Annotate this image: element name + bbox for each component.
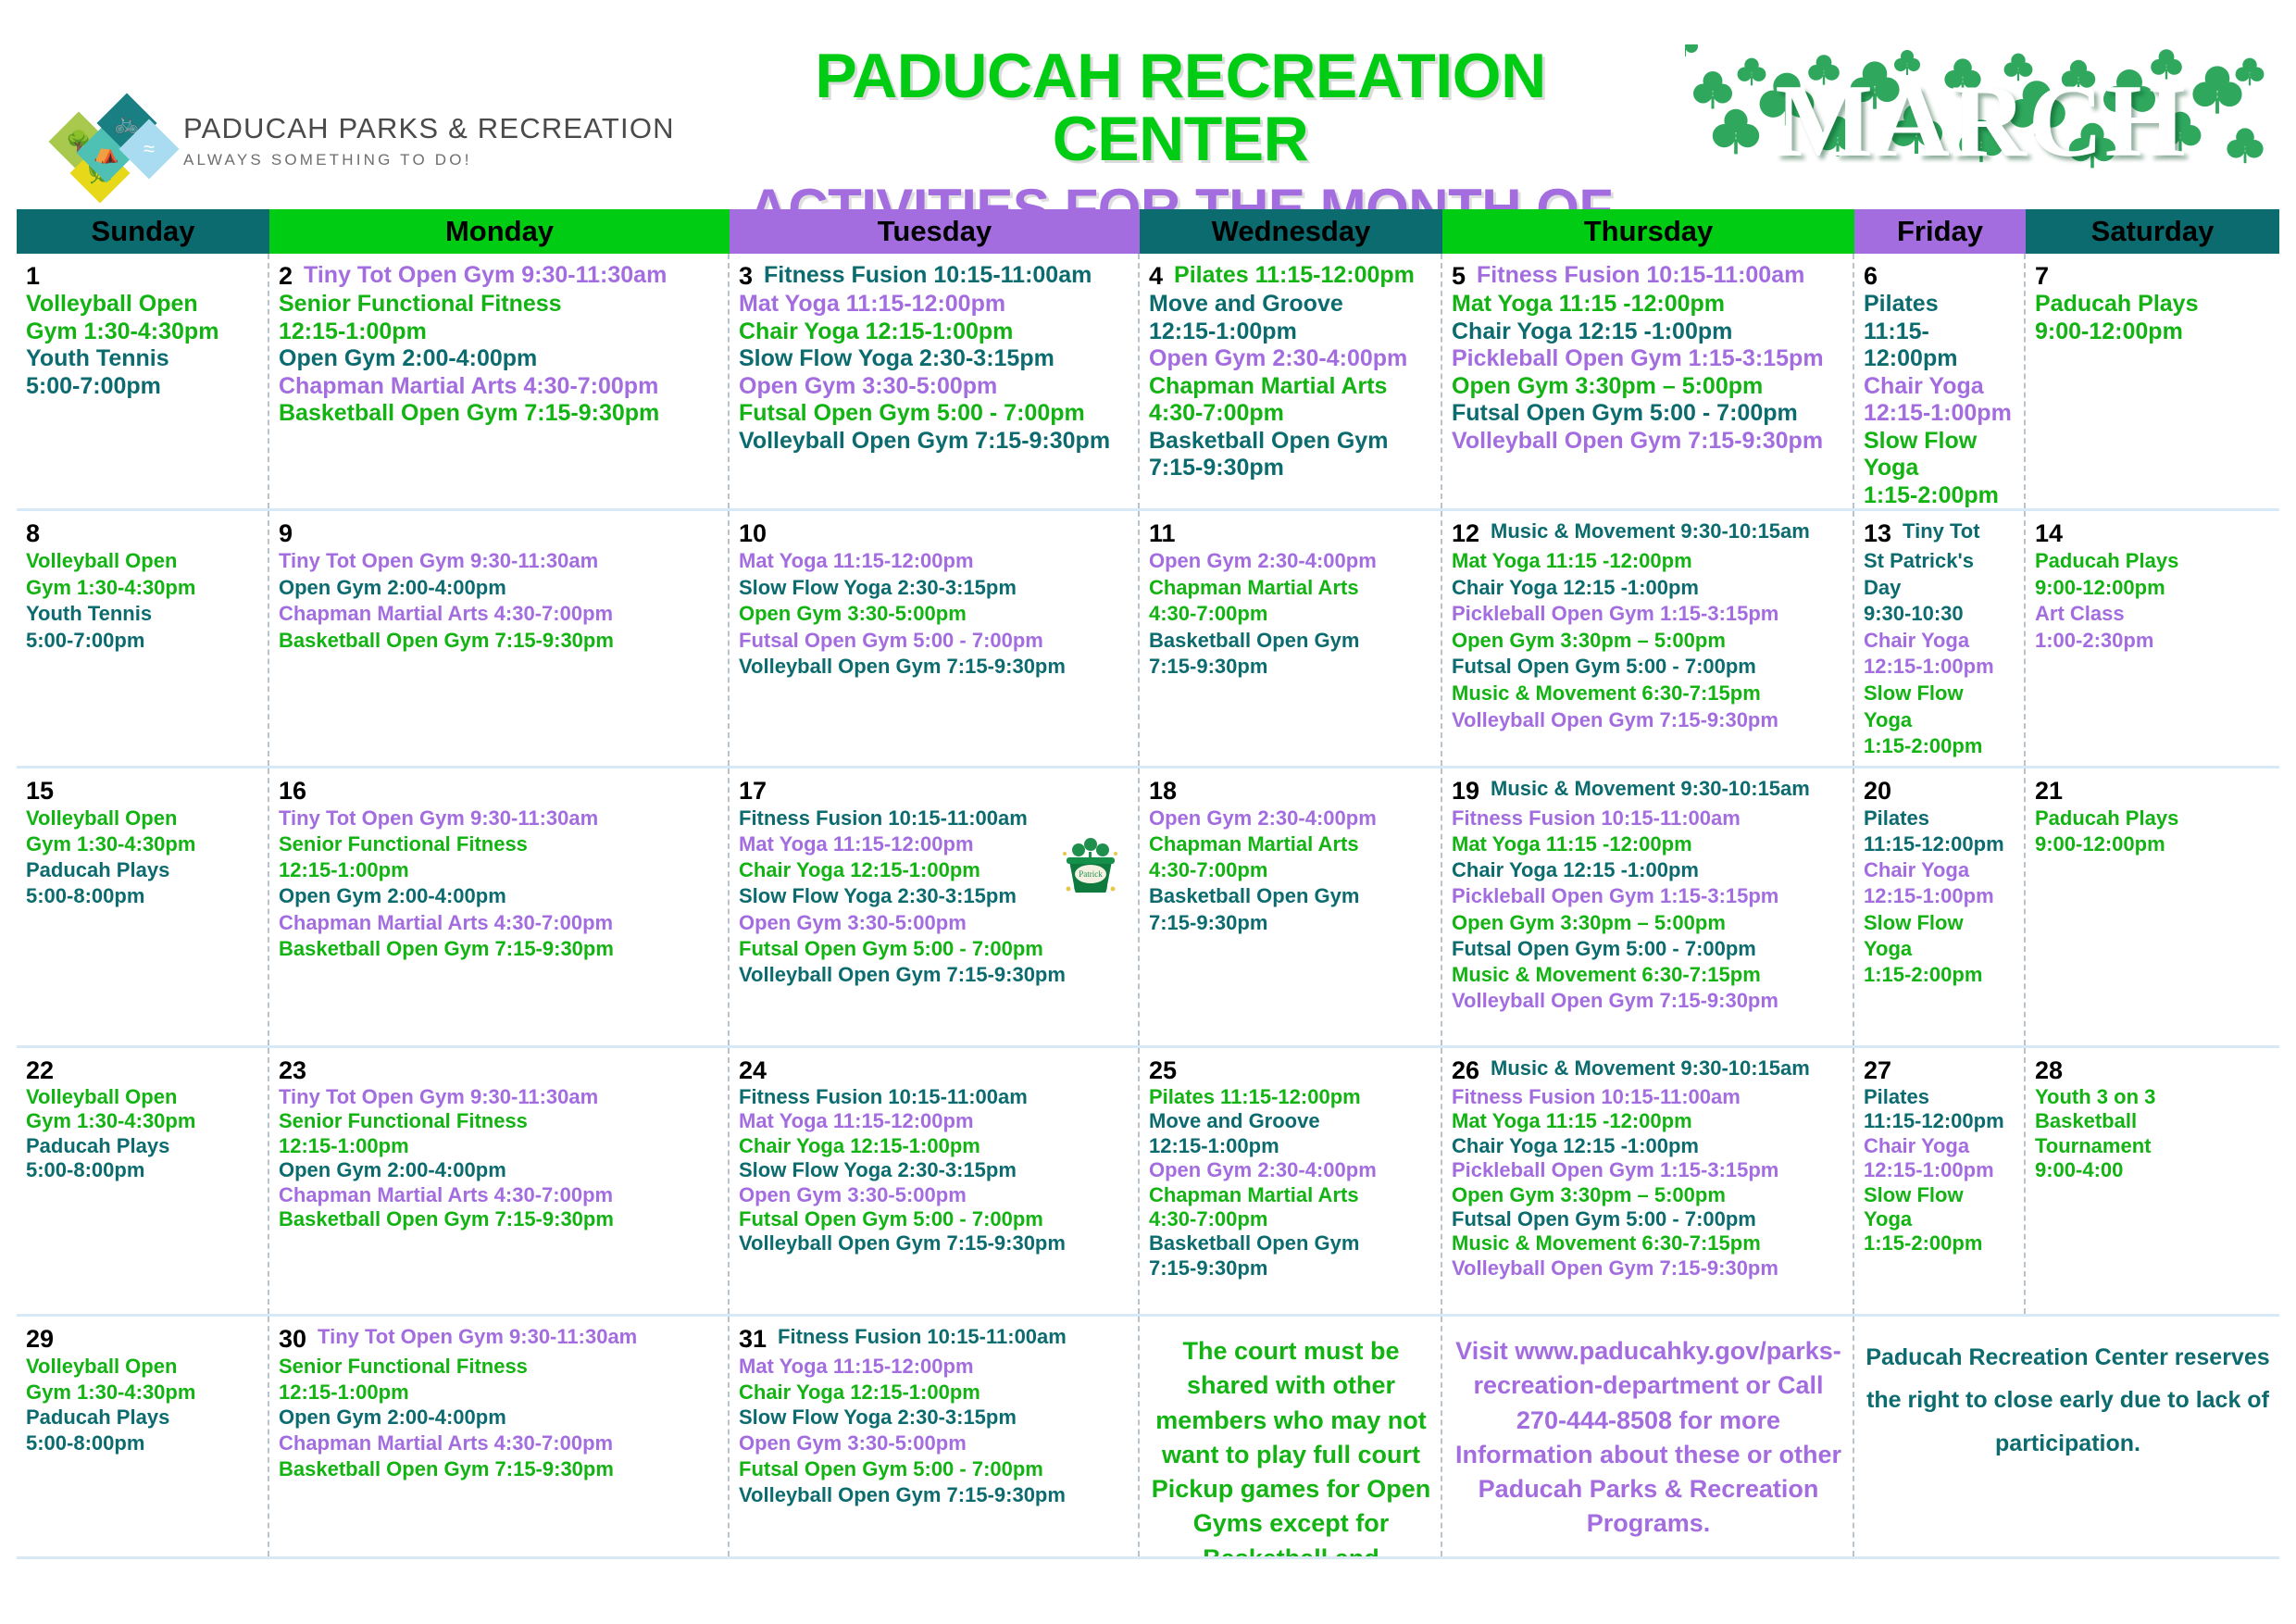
event-item: Fitness Fusion 10:15-11:00am (1452, 1085, 1845, 1109)
event-item: Open Gym 3:30pm – 5:00pm (1452, 373, 1845, 401)
day-number: 28 (2035, 1056, 2063, 1085)
event-item: Mat Yoga 11:15-12:00pm (739, 1109, 1130, 1133)
event-item: Basketball Open Gym (1149, 883, 1433, 909)
day-number: 14 (2035, 519, 2063, 548)
event-item: Fitness Fusion 10:15-11:00am (739, 806, 1130, 831)
event-item: Basketball Open Gym (1149, 1231, 1433, 1255)
event-item: 12:15-1:00pm (1864, 1158, 2016, 1182)
event-item: Slow Flow Yoga 2:30-3:15pm (739, 345, 1130, 373)
event-item: Tiny Tot (1903, 519, 1980, 543)
event-item: Volleyball Open (26, 1354, 260, 1380)
event-item: 12:15-1:00pm (1149, 319, 1433, 346)
event-item: 5:00-8:00pm (26, 1158, 260, 1182)
day-cell-header: 25 (1149, 1056, 1433, 1085)
day-cell-14: 14Paducah Plays9:00-12:00pmArt Class1:00… (2026, 511, 2279, 766)
event-item: Pickleball Open Gym 1:15-3:15pm (1452, 883, 1845, 909)
event-item: Tiny Tot Open Gym 9:30-11:30am (279, 1085, 720, 1109)
event-item: Pickleball Open Gym 1:15-3:15pm (1452, 1158, 1845, 1182)
day-number: 4 (1149, 262, 1163, 291)
day-number: 19 (1452, 777, 1479, 806)
event-item: Basketball (2035, 1109, 2272, 1133)
event-item: Volleyball Open Gym 7:15-9:30pm (1452, 988, 1845, 1014)
event-item: Tiny Tot Open Gym 9:30-11:30am (304, 262, 667, 288)
event-item: Music & Movement 9:30-10:15am (1491, 519, 1810, 543)
event-item: 12:15-1:00pm (279, 857, 720, 883)
dow-thursday: Thursday (1442, 209, 1854, 254)
event-item: Mat Yoga 11:15-12:00pm (739, 1354, 1130, 1380)
dow-saturday: Saturday (2026, 209, 2279, 254)
day-number: 13 (1864, 519, 1891, 548)
event-item: Futsal Open Gym 5:00 - 7:00pm (739, 936, 1130, 962)
event-item: 4:30-7:00pm (1149, 1207, 1433, 1231)
day-number: 30 (279, 1325, 306, 1354)
day-cell-header: 21 (2035, 777, 2272, 806)
event-item: Paducah Plays (26, 1134, 260, 1158)
event-item: Mat Yoga 11:15 -12:00pm (1452, 1109, 1845, 1133)
event-item: Pickleball Open Gym 1:15-3:15pm (1452, 345, 1845, 373)
day-number: 12 (1452, 519, 1479, 548)
day-cell-15: 15Volleyball OpenGym 1:30-4:30pmPaducah … (17, 768, 269, 1045)
event-item: Gym 1:30-4:30pm (26, 831, 260, 857)
day-cell-28: 28Youth 3 on 3BasketballTournament9:00-4… (2026, 1048, 2279, 1314)
day-cell-header: 9 (279, 519, 720, 548)
event-item: Volleyball Open Gym 7:15-9:30pm (1452, 428, 1845, 456)
event-item: Senior Functional Fitness (279, 831, 720, 857)
day-number: 15 (26, 777, 54, 806)
event-item: 7:15-9:30pm (1149, 910, 1433, 936)
day-cell-header: 1 (26, 262, 260, 291)
event-item: 5:00-8:00pm (26, 883, 260, 909)
dow-tuesday: Tuesday (730, 209, 1140, 254)
event-item: Open Gym 2:30-4:00pm (1149, 1158, 1433, 1182)
event-item: Open Gym 3:30-5:00pm (739, 910, 1130, 936)
day-cell-header: 26Music & Movement 9:30-10:15am (1452, 1056, 1845, 1085)
calendar-page: 🌳 🌿 ⛺ 🚲 ≈ PADUCAH PARKS & RECREATION ALW… (0, 0, 2296, 1624)
day-number: 2 (279, 262, 293, 291)
event-item: Pilates (1864, 1085, 2016, 1109)
day-cell-11: 11Open Gym 2:30-4:00pmChapman Martial Ar… (1140, 511, 1442, 766)
day-cell-3: 3Fitness Fusion 10:15-11:00amMat Yoga 11… (730, 254, 1140, 508)
event-item: Volleyball Open (26, 806, 260, 831)
event-item: Chair Yoga (1864, 628, 2016, 655)
event-item: Open Gym 3:30pm – 5:00pm (1452, 628, 1845, 655)
event-item: Basketball Open Gym 7:15-9:30pm (279, 936, 720, 962)
event-item: 1:00-2:30pm (2035, 628, 2272, 655)
calendar-grid: Sunday Monday Tuesday Wednesday Thursday… (17, 209, 2279, 1559)
day-number: 3 (739, 262, 753, 291)
event-item: Futsal Open Gym 5:00 - 7:00pm (739, 1456, 1130, 1482)
disclaimer-note: Paducah Recreation Center reserves the r… (1864, 1336, 2272, 1465)
event-item: Youth Tennis (26, 601, 260, 628)
day-cell-header: 10 (739, 519, 1130, 548)
event-item: 11:15-12:00pm (1864, 831, 2016, 857)
event-item: Open Gym 3:30pm – 5:00pm (1452, 910, 1845, 936)
day-cell-header: 14 (2035, 519, 2272, 548)
day-number: 11 (1149, 519, 1176, 548)
calendar-week-row: 15Volleyball OpenGym 1:30-4:30pmPaducah … (17, 768, 2279, 1048)
day-number: 10 (739, 519, 767, 548)
day-cell-header: 16 (279, 777, 720, 806)
event-item: 7:15-9:30pm (1149, 1256, 1433, 1280)
dow-monday: Monday (269, 209, 730, 254)
event-item: Basketball Open Gym (1149, 628, 1433, 655)
day-number: 27 (1864, 1056, 1891, 1085)
calendar-note-cell: Visit www.paducahky.gov/parks-recreation… (1442, 1317, 1854, 1556)
day-cell-2: 2Tiny Tot Open Gym 9:30-11:30amSenior Fu… (269, 254, 730, 508)
event-item: Tiny Tot Open Gym 9:30-11:30am (279, 806, 720, 831)
day-number: 29 (26, 1325, 54, 1354)
day-cell-18: 18Open Gym 2:30-4:00pmChapman Martial Ar… (1140, 768, 1442, 1045)
event-item: 7:15-9:30pm (1149, 455, 1433, 482)
day-cell-20: 20Pilates11:15-12:00pmChair Yoga12:15-1:… (1854, 768, 2026, 1045)
event-item: Paducah Plays (26, 1405, 260, 1430)
svg-text:Patrick: Patrick (1079, 869, 1103, 879)
day-cell-header: 15 (26, 777, 260, 806)
page-title: PADUCAH RECREATION CENTER (690, 44, 1671, 170)
day-number: 21 (2035, 777, 2063, 806)
event-item: Open Gym 2:00-4:00pm (279, 345, 720, 373)
event-item: Paducah Plays (26, 857, 260, 883)
event-item: Pickleball Open Gym 1:15-3:15pm (1452, 601, 1845, 628)
event-item: Basketball Open Gym 7:15-9:30pm (279, 1207, 720, 1231)
event-item: 9:00-12:00pm (2035, 319, 2272, 346)
event-item: Volleyball Open (26, 1085, 260, 1109)
day-cell-25: 25Pilates 11:15-12:00pmMove and Groove12… (1140, 1048, 1442, 1314)
event-item: Open Gym 2:30-4:00pm (1149, 548, 1433, 575)
day-number: 20 (1864, 777, 1891, 806)
event-item: Mat Yoga 11:15-12:00pm (739, 548, 1130, 575)
day-cell-header: 29 (26, 1325, 260, 1354)
calendar-week-row: 29Volleyball OpenGym 1:30-4:30pmPaducah … (17, 1317, 2279, 1559)
event-item: Open Gym 2:30-4:00pm (1149, 345, 1433, 373)
day-cell-header: 19Music & Movement 9:30-10:15am (1452, 777, 1845, 806)
event-item: Pilates (1864, 291, 2016, 319)
event-item: Move and Groove (1149, 1109, 1433, 1133)
event-item: Slow Flow Yoga 2:30-3:15pm (739, 575, 1130, 602)
event-item: Gym 1:30-4:30pm (26, 319, 260, 346)
day-cell-header: 13Tiny Tot (1864, 519, 2016, 548)
event-item: Mat Yoga 11:15 -12:00pm (1452, 831, 1845, 857)
event-item: 4:30-7:00pm (1149, 601, 1433, 628)
day-cell-6: 6Pilates11:15-12:00pmChair Yoga12:15-1:0… (1854, 254, 2026, 508)
event-item: 9:00-12:00pm (2035, 575, 2272, 602)
dow-sunday: Sunday (17, 209, 269, 254)
event-item: St Patrick's Day (1864, 548, 2016, 601)
event-item: Gym 1:30-4:30pm (26, 1109, 260, 1133)
day-number: 26 (1452, 1056, 1479, 1085)
event-item: Basketball Open Gym 7:15-9:30pm (279, 400, 720, 428)
event-item: Chair Yoga (1864, 1134, 2016, 1158)
event-item: Youth 3 on 3 (2035, 1085, 2272, 1109)
day-cell-header: 28 (2035, 1056, 2272, 1085)
day-number: 9 (279, 519, 293, 548)
brand-tagline: ALWAYS SOMETHING TO DO! (183, 151, 675, 169)
event-item: Music & Movement 9:30-10:15am (1491, 1056, 1810, 1080)
event-item: Chair Yoga 12:15 -1:00pm (1452, 319, 1845, 346)
event-item: Chair Yoga 12:15 -1:00pm (1452, 575, 1845, 602)
event-item: Fitness Fusion 10:15-11:00am (1452, 806, 1845, 831)
day-number: 24 (739, 1056, 767, 1085)
day-number: 22 (26, 1056, 54, 1085)
day-number: 16 (279, 777, 306, 806)
event-item: Open Gym 2:00-4:00pm (279, 1158, 720, 1182)
event-item: Basketball Open Gym 7:15-9:30pm (279, 628, 720, 655)
calendar-note-cell: Paducah Recreation Center reserves the r… (1854, 1317, 2279, 1556)
day-cell-16: 16Tiny Tot Open Gym 9:30-11:30amSenior F… (269, 768, 730, 1045)
event-item: Fitness Fusion 10:15-11:00am (1477, 262, 1804, 288)
event-item: 9:00-12:00pm (2035, 831, 2272, 857)
event-item: Futsal Open Gym 5:00 - 7:00pm (1452, 936, 1845, 962)
event-item: 12:15-1:00pm (1864, 883, 2016, 909)
event-item: Open Gym 2:00-4:00pm (279, 883, 720, 909)
event-item: 12:15-1:00pm (279, 1134, 720, 1158)
calendar-note-cell: The court must be shared with other memb… (1140, 1317, 1442, 1556)
day-cell-header: 20 (1864, 777, 2016, 806)
calendar-note-text: The court must be shared with other memb… (1149, 1334, 1433, 1556)
event-item: Music & Movement 6:30-7:15pm (1452, 1231, 1845, 1255)
page-header: 🌳 🌿 ⛺ 🚲 ≈ PADUCAH PARKS & RECREATION ALW… (0, 0, 2296, 206)
logo-diamonds-icon: 🌳 🌿 ⛺ 🚲 ≈ (57, 100, 170, 181)
day-cell-header: 24 (739, 1056, 1130, 1085)
day-number: 8 (26, 519, 40, 548)
event-item: Paducah Plays (2035, 806, 2272, 831)
day-cell-13: 13Tiny TotSt Patrick's Day9:30-10:30Chai… (1854, 511, 2026, 766)
event-item: Chair Yoga 12:15-1:00pm (739, 1134, 1130, 1158)
event-item: 12:15-1:00pm (1149, 1134, 1433, 1158)
event-item: Chair Yoga 12:15 -1:00pm (1452, 1134, 1845, 1158)
day-cell-header: 8 (26, 519, 260, 548)
day-cell-header: 31Fitness Fusion 10:15-11:00am (739, 1325, 1130, 1354)
event-item: Tiny Tot Open Gym 9:30-11:30am (318, 1325, 637, 1348)
event-item: Gym 1:30-4:30pm (26, 1380, 260, 1405)
event-item: Chapman Martial Arts (1149, 575, 1433, 602)
day-cell-header: 3Fitness Fusion 10:15-11:00am (739, 262, 1130, 291)
event-item: Chapman Martial Arts (1149, 1183, 1433, 1207)
day-cell-4: 4Pilates 11:15-12:00pmMove and Groove12:… (1140, 254, 1442, 508)
event-item: Move and Groove (1149, 291, 1433, 319)
calendar-week-row: 8Volleyball OpenGym 1:30-4:30pmYouth Ten… (17, 511, 2279, 768)
day-cell-7: 7Paducah Plays9:00-12:00pm (2026, 254, 2279, 508)
event-item: Pilates 11:15-12:00pm (1174, 262, 1415, 288)
event-item: 4:30-7:00pm (1149, 400, 1433, 428)
event-item: Slow Flow Yoga (1864, 910, 2016, 962)
event-item: Fitness Fusion 10:15-11:00am (739, 1085, 1130, 1109)
day-cell-header: 30Tiny Tot Open Gym 9:30-11:30am (279, 1325, 720, 1354)
day-cell-header: 4Pilates 11:15-12:00pm (1149, 262, 1433, 291)
event-item: Volleyball Open Gym 7:15-9:30pm (1452, 1256, 1845, 1280)
event-item: Futsal Open Gym 5:00 - 7:00pm (739, 400, 1130, 428)
event-item: Gym 1:30-4:30pm (26, 575, 260, 602)
event-item: Futsal Open Gym 5:00 - 7:00pm (1452, 400, 1845, 428)
event-item: Open Gym 3:30-5:00pm (739, 1183, 1130, 1207)
event-item: Volleyball Open (26, 291, 260, 319)
event-item: Senior Functional Fitness (279, 1109, 720, 1133)
event-item: Basketball Open Gym 7:15-9:30pm (279, 1456, 720, 1482)
event-item: Chair Yoga 12:15 -1:00pm (1452, 857, 1845, 883)
day-cell-27: 27Pilates11:15-12:00pmChair Yoga12:15-1:… (1854, 1048, 2026, 1314)
calendar-weeks: 1Volleyball OpenGym 1:30-4:30pmYouth Ten… (17, 254, 2279, 1559)
event-item: Mat Yoga 11:15 -12:00pm (1452, 548, 1845, 575)
day-cell-5: 5Fitness Fusion 10:15-11:00amMat Yoga 11… (1442, 254, 1854, 508)
event-item: Mat Yoga 11:15-12:00pm (739, 291, 1130, 319)
brand-title: PADUCAH PARKS & RECREATION (183, 112, 675, 145)
day-cell-header: 5Fitness Fusion 10:15-11:00am (1452, 262, 1845, 291)
event-item: Youth Tennis (26, 345, 260, 373)
event-item: Volleyball Open Gym 7:15-9:30pm (739, 654, 1130, 681)
event-item: Chapman Martial Arts 4:30-7:00pm (279, 601, 720, 628)
event-item: Slow Flow Yoga (1864, 681, 2016, 733)
event-item: Volleyball Open Gym 7:15-9:30pm (739, 1482, 1130, 1508)
day-cell-21: 21Paducah Plays9:00-12:00pm (2026, 768, 2279, 1045)
day-cell-29: 29Volleyball OpenGym 1:30-4:30pmPaducah … (17, 1317, 269, 1556)
event-item: Volleyball Open Gym 7:15-9:30pm (739, 428, 1130, 456)
event-item: Slow Flow Yoga 2:30-3:15pm (739, 1158, 1130, 1182)
dow-friday: Friday (1854, 209, 2026, 254)
event-item: Senior Functional Fitness (279, 291, 720, 319)
event-item: Chair Yoga 12:15-1:00pm (739, 1380, 1130, 1405)
day-cell-header: 17 (739, 777, 1130, 806)
event-item: Open Gym 3:30-5:00pm (739, 1430, 1130, 1456)
event-item: Chair Yoga (1864, 857, 2016, 883)
day-cell-header: 7 (2035, 262, 2272, 291)
day-cell-26: 26Music & Movement 9:30-10:15amFitness F… (1442, 1048, 1854, 1314)
day-cell-10: 10Mat Yoga 11:15-12:00pmSlow Flow Yoga 2… (730, 511, 1140, 766)
day-number: 6 (1864, 262, 1878, 291)
day-cell-header: 22 (26, 1056, 260, 1085)
event-item: 12:15-1:00pm (1864, 400, 2016, 428)
event-item: Chapman Martial Arts 4:30-7:00pm (279, 1183, 720, 1207)
day-cell-19: 19Music & Movement 9:30-10:15amFitness F… (1442, 768, 1854, 1045)
event-item: Tournament (2035, 1134, 2272, 1158)
event-item: Slow Flow Yoga (1864, 1183, 2016, 1232)
event-item: Paducah Plays (2035, 291, 2272, 319)
event-item: Chapman Martial Arts 4:30-7:00pm (279, 1430, 720, 1456)
day-cell-9: 9Tiny Tot Open Gym 9:30-11:30amOpen Gym … (269, 511, 730, 766)
day-number: 17 (739, 777, 767, 806)
event-item: 9:00-4:00 (2035, 1158, 2272, 1182)
event-item: Volleyball Open (26, 548, 260, 575)
brand-logo: 🌳 🌿 ⛺ 🚲 ≈ PADUCAH PARKS & RECREATION ALW… (57, 100, 675, 181)
event-item: 4:30-7:00pm (1149, 857, 1433, 883)
event-item: Fitness Fusion 10:15-11:00am (778, 1325, 1067, 1348)
day-number: 23 (279, 1056, 306, 1085)
day-cell-30: 30Tiny Tot Open Gym 9:30-11:30amSenior F… (269, 1317, 730, 1556)
event-item: 5:00-7:00pm (26, 373, 260, 401)
event-item: Volleyball Open Gym 7:15-9:30pm (739, 1231, 1130, 1255)
event-item: 7:15-9:30pm (1149, 654, 1433, 681)
day-number: 1 (26, 262, 40, 291)
event-item: 5:00-7:00pm (26, 628, 260, 655)
day-cell-31: 31Fitness Fusion 10:15-11:00amMat Yoga 1… (730, 1317, 1140, 1556)
event-item: Open Gym 3:30pm – 5:00pm (1452, 1183, 1845, 1207)
event-item: Chapman Martial Arts (1149, 373, 1433, 401)
day-cell-header: 2Tiny Tot Open Gym 9:30-11:30am (279, 262, 720, 291)
event-item: 5:00-8:00pm (26, 1430, 260, 1456)
event-item: 11:15-12:00pm (1864, 1109, 2016, 1133)
event-item: 1:15-2:00pm (1864, 1231, 2016, 1255)
month-label: MARCH (1685, 44, 2277, 198)
event-item: Volleyball Open Gym 7:15-9:30pm (1452, 707, 1845, 734)
event-item: Volleyball Open Gym 7:15-9:30pm (739, 962, 1130, 988)
event-item: 12:15-1:00pm (279, 319, 720, 346)
event-item: Pilates 11:15-12:00pm (1149, 1085, 1433, 1109)
day-cell-22: 22Volleyball OpenGym 1:30-4:30pmPaducah … (17, 1048, 269, 1314)
month-banner: MARCH (1685, 44, 2277, 198)
day-cell-header: 11 (1149, 519, 1433, 548)
event-item: Chair Yoga (1864, 373, 2016, 401)
event-item: Music & Movement 9:30-10:15am (1491, 777, 1810, 800)
event-item: Slow Flow Yoga (1864, 428, 2016, 482)
event-item: Futsal Open Gym 5:00 - 7:00pm (1452, 654, 1845, 681)
event-item: 12:15-1:00pm (1864, 654, 2016, 681)
day-cell-8: 8Volleyball OpenGym 1:30-4:30pmYouth Ten… (17, 511, 269, 766)
event-item: Open Gym 2:00-4:00pm (279, 575, 720, 602)
day-cell-header: 23 (279, 1056, 720, 1085)
event-item: Futsal Open Gym 5:00 - 7:00pm (739, 628, 1130, 655)
st-patricks-day-icon: Patrick (1060, 835, 1121, 893)
event-item: Chair Yoga 12:15-1:00pm (739, 319, 1130, 346)
event-item: Art Class (2035, 601, 2272, 628)
day-number: 31 (739, 1325, 767, 1354)
event-item: Pilates (1864, 806, 2016, 831)
event-item: Chapman Martial Arts (1149, 831, 1433, 857)
day-cell-23: 23Tiny Tot Open Gym 9:30-11:30amSenior F… (269, 1048, 730, 1314)
event-item: 12:15-1:00pm (279, 1380, 720, 1405)
event-item: Music & Movement 6:30-7:15pm (1452, 962, 1845, 988)
event-item: Basketball Open Gym (1149, 428, 1433, 456)
event-item: 11:15-12:00pm (1864, 319, 2016, 373)
event-item: 1:15-2:00pm (1864, 733, 2016, 760)
event-item: Open Gym 2:30-4:00pm (1149, 806, 1433, 831)
event-item: Chapman Martial Arts 4:30-7:00pm (279, 910, 720, 936)
event-item: Open Gym 3:30-5:00pm (739, 601, 1130, 628)
event-item: Open Gym 2:00-4:00pm (279, 1405, 720, 1430)
event-item: Tiny Tot Open Gym 9:30-11:30am (279, 548, 720, 575)
calendar-week-row: 22Volleyball OpenGym 1:30-4:30pmPaducah … (17, 1048, 2279, 1317)
day-cell-header: 27 (1864, 1056, 2016, 1085)
day-cell-12: 12Music & Movement 9:30-10:15amMat Yoga … (1442, 511, 1854, 766)
water-waves-icon: ≈ (128, 128, 170, 170)
event-item: Slow Flow Yoga 2:30-3:15pm (739, 1405, 1130, 1430)
calendar-week-row: 1Volleyball OpenGym 1:30-4:30pmYouth Ten… (17, 254, 2279, 511)
day-cell-17: 17Fitness Fusion 10:15-11:00amMat Yoga 1… (730, 768, 1140, 1045)
day-of-week-header-row: Sunday Monday Tuesday Wednesday Thursday… (17, 209, 2279, 254)
event-item: 9:30-10:30 (1864, 601, 2016, 628)
event-item: Music & Movement 6:30-7:15pm (1452, 681, 1845, 707)
event-item: Paducah Plays (2035, 548, 2272, 575)
day-number: 25 (1149, 1056, 1177, 1085)
event-item: 1:15-2:00pm (1864, 482, 2016, 509)
day-cell-header: 6 (1864, 262, 2016, 291)
event-item: 1:15-2:00pm (1864, 962, 2016, 988)
event-item: Chapman Martial Arts 4:30-7:00pm (279, 373, 720, 401)
day-number: 18 (1149, 777, 1177, 806)
event-item: Futsal Open Gym 5:00 - 7:00pm (739, 1207, 1130, 1231)
day-cell-24: 24Fitness Fusion 10:15-11:00amMat Yoga 1… (730, 1048, 1140, 1314)
day-cell-header: 18 (1149, 777, 1433, 806)
event-item: Futsal Open Gym 5:00 - 7:00pm (1452, 1207, 1845, 1231)
day-number: 7 (2035, 262, 2049, 291)
event-item: Mat Yoga 11:15 -12:00pm (1452, 291, 1845, 319)
dow-wednesday: Wednesday (1140, 209, 1442, 254)
event-item: Fitness Fusion 10:15-11:00am (764, 262, 1092, 288)
event-item: Senior Functional Fitness (279, 1354, 720, 1380)
day-number: 5 (1452, 262, 1466, 291)
event-item: Open Gym 3:30-5:00pm (739, 373, 1130, 401)
day-cell-header: 12Music & Movement 9:30-10:15am (1452, 519, 1845, 548)
calendar-note-text: Visit www.paducahky.gov/parks-recreation… (1452, 1334, 1845, 1542)
day-cell-1: 1Volleyball OpenGym 1:30-4:30pmYouth Ten… (17, 254, 269, 508)
